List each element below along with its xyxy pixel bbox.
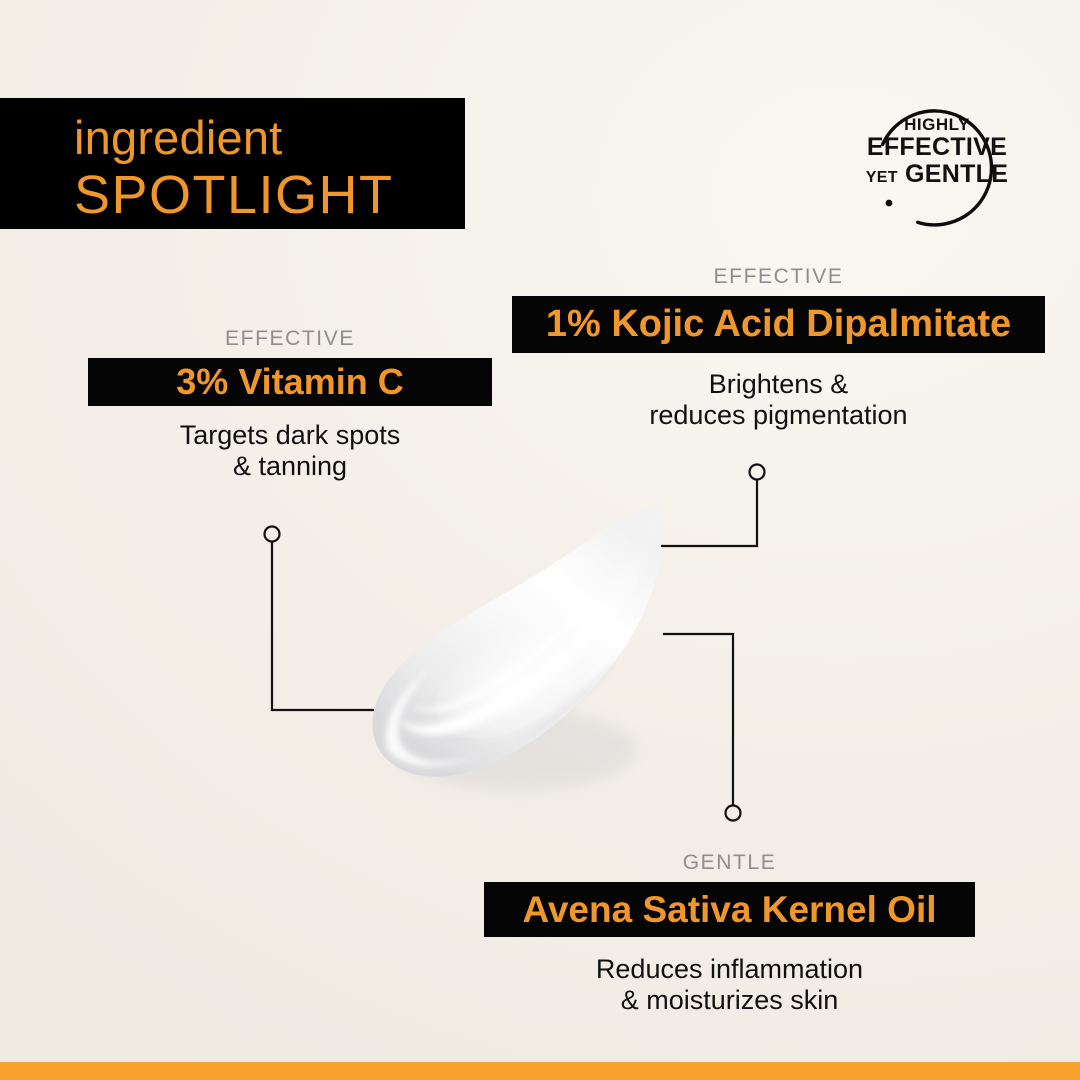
badge-line-1: HIGHLY [862,116,1012,133]
callout-desc-line-2-vitamin-c: & tanning [88,451,492,482]
callout-desc-kojic-acid: Brightens & reduces pigmentation [512,369,1045,431]
badge-line-3-small: YET [866,169,898,186]
callout-desc-line-1-kojic-acid: Brightens & [512,369,1045,400]
title-block: ingredient SPOTLIGHT [0,98,465,229]
callout-kicker-vitamin-c: EFFECTIVE [88,326,492,352]
callout-desc-vitamin-c: Targets dark spots & tanning [88,420,492,482]
callout-desc-line-2-kojic-acid: reduces pigmentation [512,400,1045,431]
callout-kojic-acid: EFFECTIVE 1% Kojic Acid Dipalmitate Brig… [512,264,1045,431]
callout-name-avena-sativa: Avena Sativa Kernel Oil [484,882,975,937]
callout-name-vitamin-c: 3% Vitamin C [88,358,492,406]
callout-desc-line-2-avena-sativa: & moisturizes skin [484,985,975,1016]
cream-smear-swatch [358,488,708,828]
callout-name-kojic-acid: 1% Kojic Acid Dipalmitate [512,296,1045,353]
callout-kicker-avena-sativa: GENTLE [484,850,975,876]
badge-line-3: YET GENTLE [862,162,1012,187]
callout-desc-avena-sativa: Reduces inflammation & moisturizes skin [484,954,975,1016]
callout-kicker-kojic-acid: EFFECTIVE [512,264,1045,290]
callout-desc-line-1-avena-sativa: Reduces inflammation [484,954,975,985]
badge-dot-icon [886,200,893,207]
badge-line-2: EFFECTIVE [862,135,1012,160]
connector-endpoint-dot-vitamin-c [265,527,280,542]
callout-vitamin-c: EFFECTIVE 3% Vitamin C Targets dark spot… [88,326,492,482]
page-title-line-1: ingredient [74,110,465,166]
page-title-line-2: SPOTLIGHT [74,166,465,224]
callout-avena-sativa: GENTLE Avena Sativa Kernel Oil Reduces i… [484,850,975,1016]
badge-line-3-big: GENTLE [905,160,1008,188]
callout-desc-line-1-vitamin-c: Targets dark spots [88,420,492,451]
bottom-accent-bar [0,1062,1080,1080]
highly-effective-yet-gentle-badge: HIGHLY EFFECTIVE YET GENTLE [862,100,1028,230]
badge-text-group: HIGHLY EFFECTIVE YET GENTLE [862,116,1012,187]
connector-endpoint-dot-kojic-acid [750,465,765,480]
connector-endpoint-dot-avena-sativa [726,806,741,821]
infographic-canvas: ingredient SPOTLIGHT HIGHLY EFFECTIVE YE… [0,0,1080,1080]
